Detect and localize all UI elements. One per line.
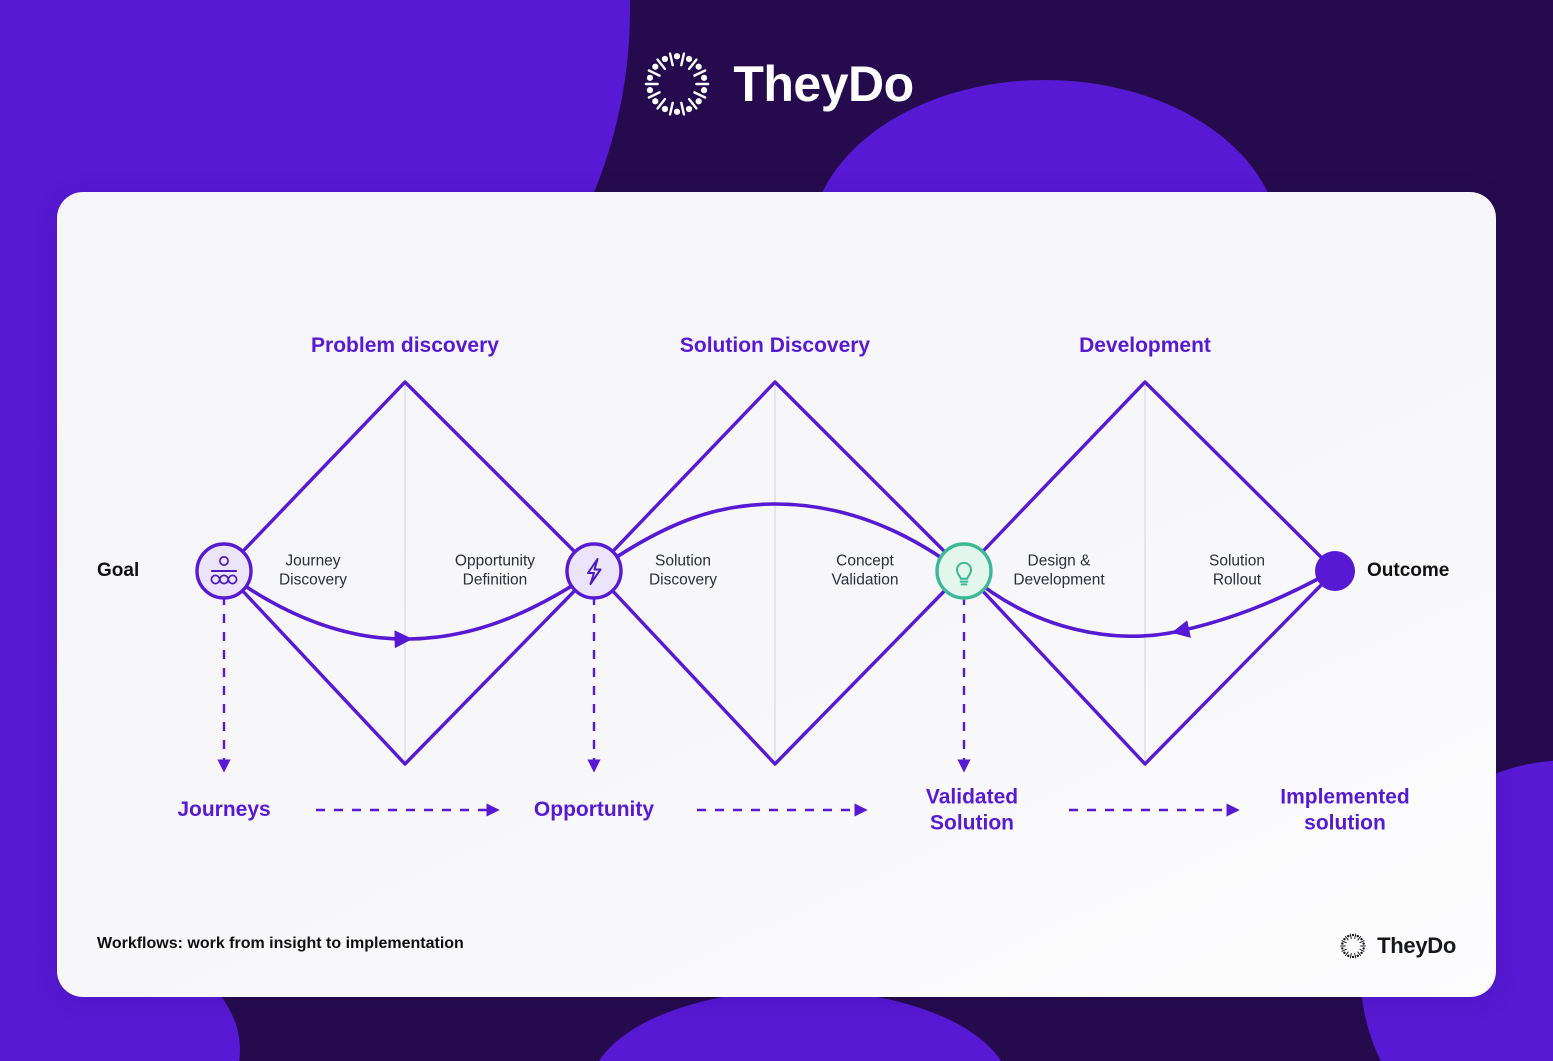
output-label-opportunity: Opportunity xyxy=(534,797,654,823)
footer-caption: Workflows: work from insight to implemen… xyxy=(97,935,464,953)
page-root: TheyDo xyxy=(0,0,1553,1061)
output-label-validated-solution: Validated Solution xyxy=(926,784,1018,835)
axis-label-goal: Goal xyxy=(97,560,139,582)
diagram-card: Problem discovery Solution Discovery Dev… xyxy=(57,192,1496,997)
background-blob-bottom-center xyxy=(590,990,1010,1061)
stage-label-concept-validation: Concept Validation xyxy=(832,552,899,591)
filled-dot-icon xyxy=(1315,551,1355,591)
stage-label-journey-discovery: Journey Discovery xyxy=(279,552,347,591)
stage-label-solution-rollout: Solution Rollout xyxy=(1209,552,1265,591)
axis-label-outcome: Outcome xyxy=(1367,560,1449,582)
triple-diamond-diagram: Problem discovery Solution Discovery Dev… xyxy=(57,192,1496,997)
brand-footer: TheyDo xyxy=(1338,931,1456,961)
theydo-burst-icon xyxy=(1338,931,1368,961)
phase-title-1: Problem discovery xyxy=(311,334,499,358)
phase-title-3: Development xyxy=(1079,334,1211,358)
outcome-node[interactable] xyxy=(1315,551,1355,591)
diagram-canvas xyxy=(57,192,1496,997)
stage-label-solution-discovery: Solution Discovery xyxy=(649,552,717,591)
brand-wordmark: TheyDo xyxy=(733,55,913,113)
output-label-implemented-solution: Implemented solution xyxy=(1280,784,1410,835)
output-label-journeys: Journeys xyxy=(177,797,270,823)
goal-node[interactable] xyxy=(197,544,251,598)
stage-label-opportunity-definition: Opportunity Definition xyxy=(455,552,535,591)
phase-title-2: Solution Discovery xyxy=(680,334,870,358)
brand-header: TheyDo xyxy=(0,46,1553,122)
validated-node[interactable] xyxy=(937,544,991,598)
theydo-burst-icon xyxy=(639,46,715,122)
opportunity-node[interactable] xyxy=(567,544,621,598)
brand-wordmark-footer: TheyDo xyxy=(1377,933,1456,959)
stage-label-design-development: Design & Development xyxy=(1013,552,1104,591)
